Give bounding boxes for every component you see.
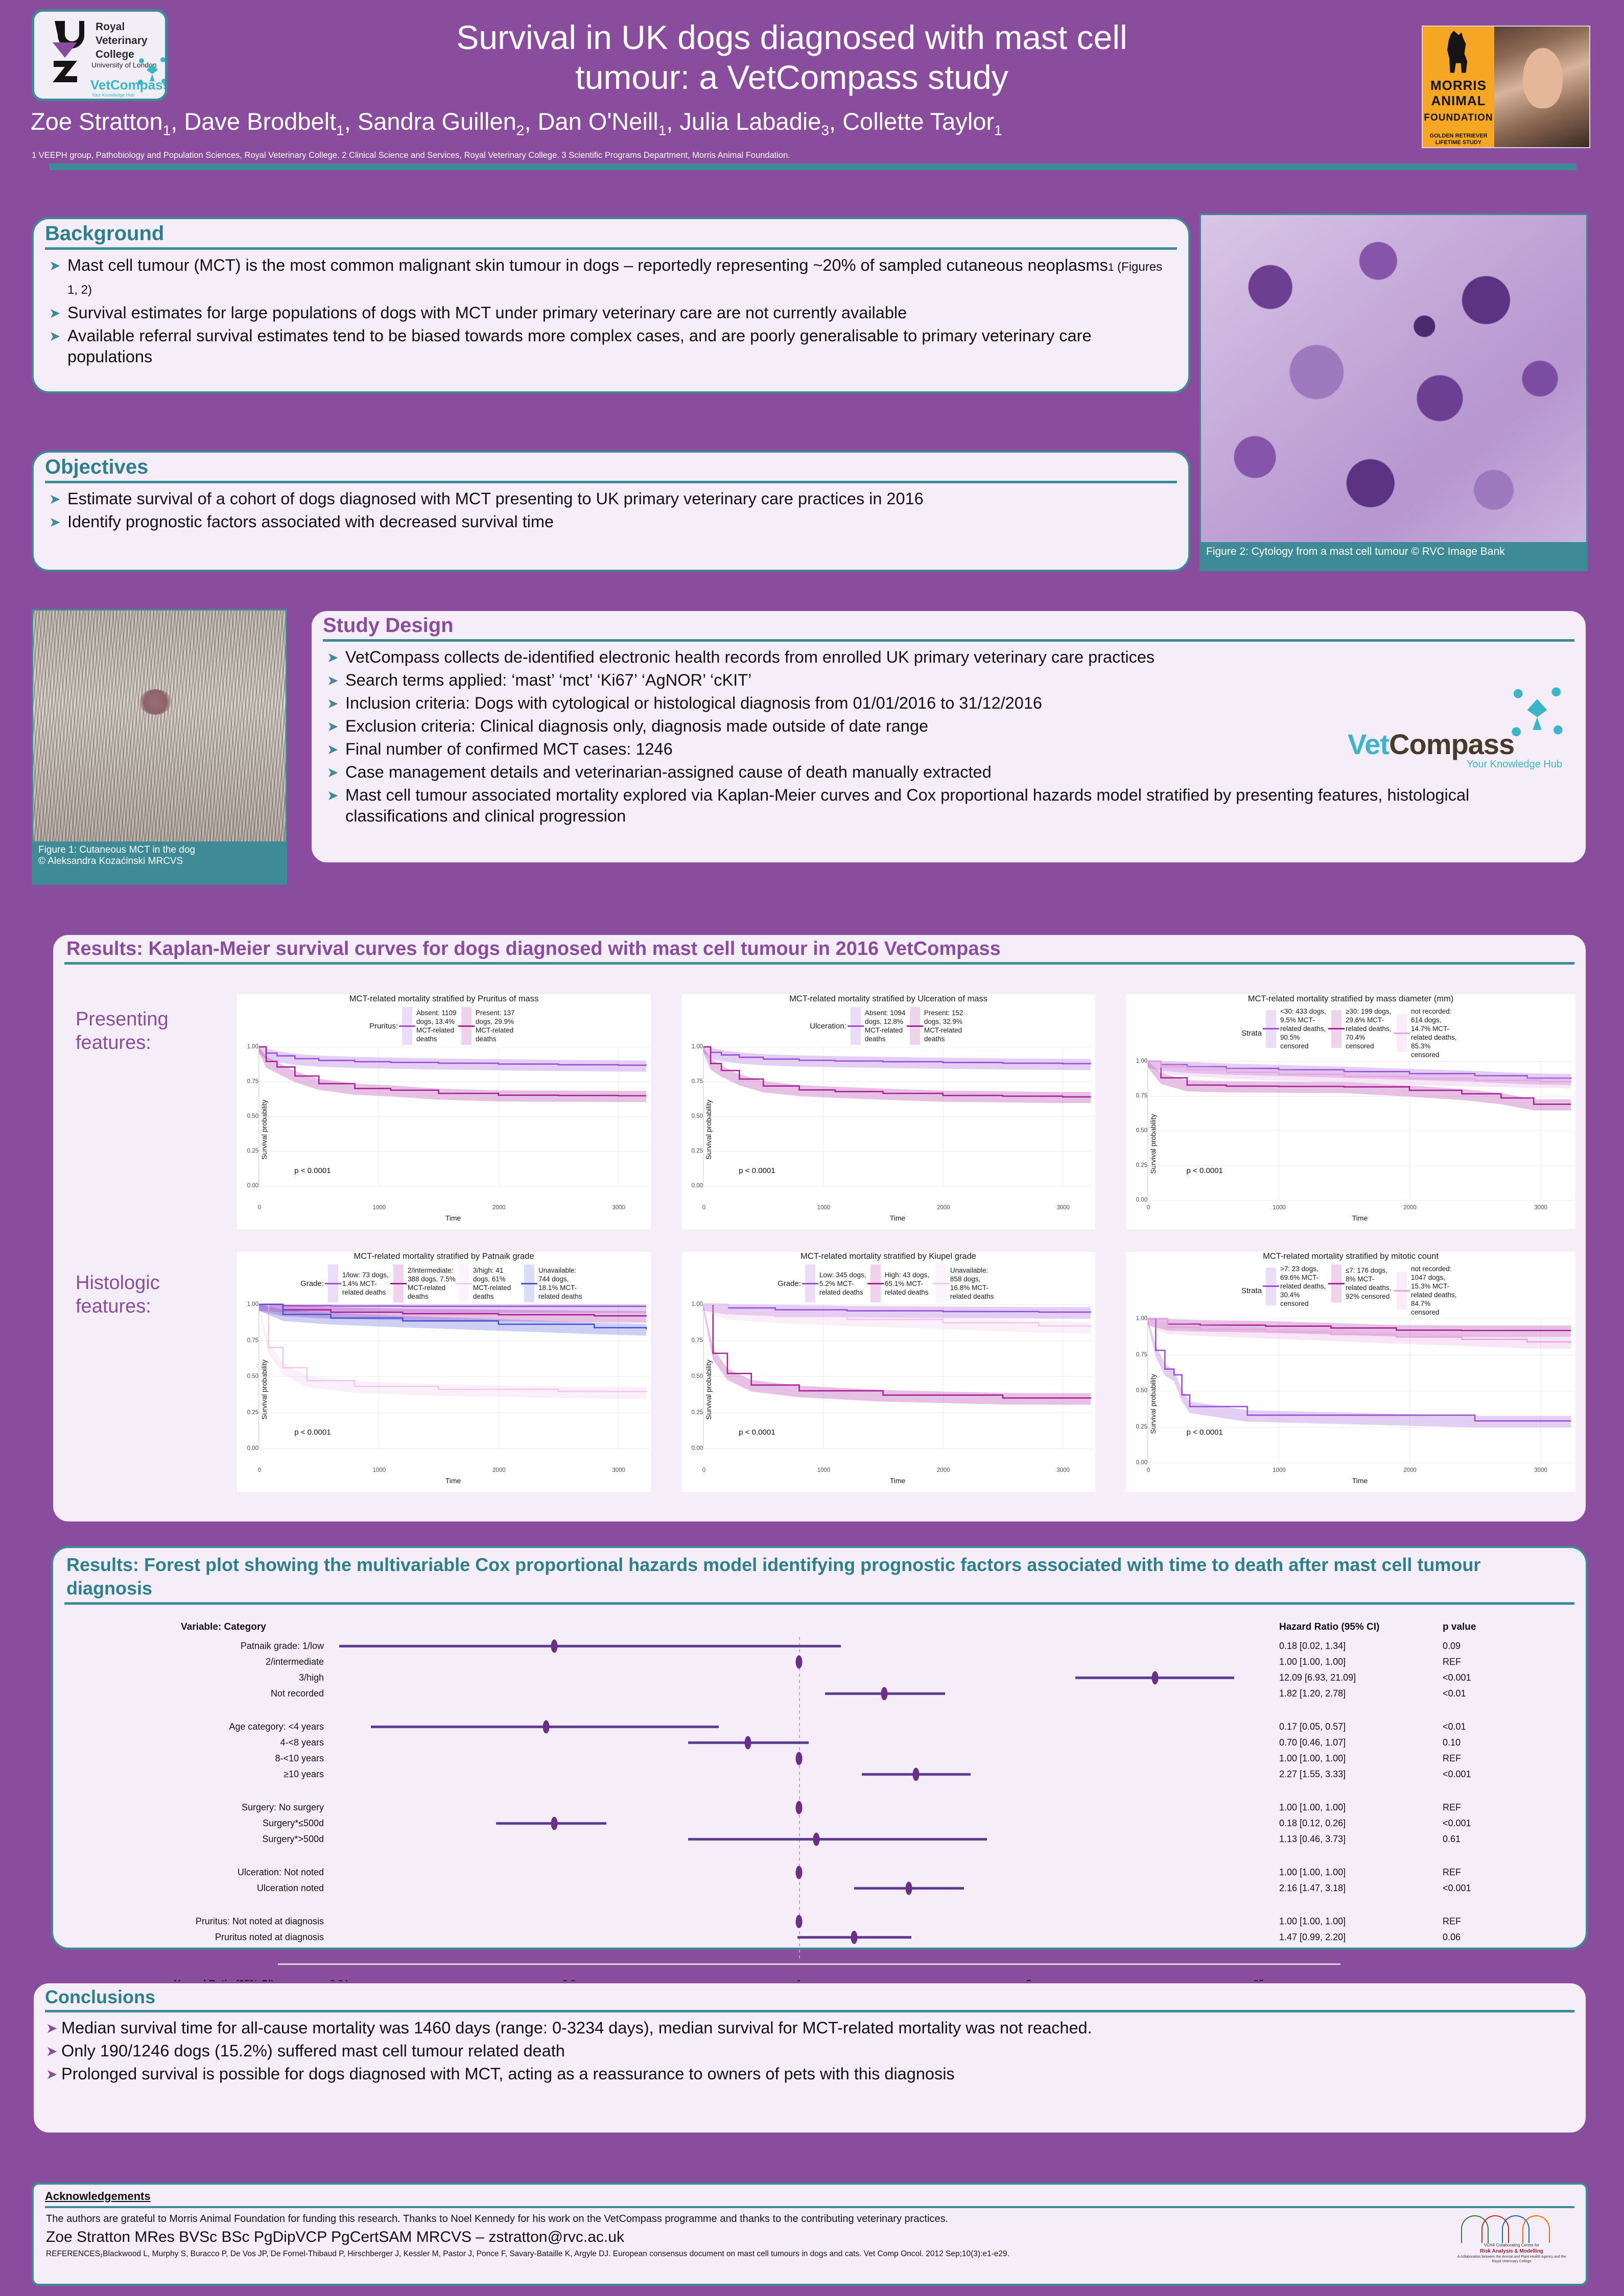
x-tick: 3000: [612, 1467, 625, 1473]
forest-col-variable: Variable: Category: [181, 1622, 266, 1633]
results-km-title: Results: Kaplan-Meier survival curves fo…: [53, 935, 1586, 962]
list-item: Mast cell tumour associated mortality ex…: [325, 785, 1570, 827]
forest-point-estimate: [796, 1655, 803, 1669]
y-tick: 1.00: [1136, 1316, 1147, 1322]
chart-plot-area: [703, 1047, 1093, 1186]
x-tick: 0: [702, 1467, 705, 1473]
legend-title: Grade:: [300, 1279, 324, 1288]
rvc-logo: Royal Veterinary College University of L…: [32, 9, 168, 101]
forest-point-estimate: [543, 1720, 549, 1733]
rvc-line2: Veterinary: [96, 35, 148, 46]
x-tick: 1000: [1273, 1467, 1286, 1473]
results-km-panel: Results: Kaplan-Meier survival curves fo…: [51, 933, 1588, 1524]
morris-animal-foundation-logo: MORRIS ANIMAL FOUNDATION GOLDEN RETRIEVE…: [1422, 26, 1590, 148]
morris-line3: FOUNDATION: [1424, 112, 1493, 123]
y-tick: 1.00: [692, 1044, 703, 1050]
results-km-divider: [64, 962, 1574, 965]
chart-plot-area: [258, 1047, 649, 1186]
rvc-line1: Royal: [96, 21, 125, 33]
morris-line2: ANIMAL: [1431, 93, 1486, 108]
morris-line1: MORRIS: [1430, 78, 1487, 93]
legend-item: <30: 433 dogs, 9.5% MCT-related deaths, …: [1266, 1007, 1329, 1050]
background-panel: Background Mast cell tumour (MCT) is the…: [32, 217, 1190, 393]
vetcompass-logo: VetCompass Your Knowledge Hub: [1348, 728, 1562, 770]
objectives-title: Objectives: [34, 453, 1188, 481]
forest-p-value: <0.01: [1443, 1689, 1466, 1699]
chart-title: MCT-related mortality stratified by Ulce…: [681, 994, 1095, 1004]
y-tick: 0.50: [1136, 1128, 1147, 1134]
legend-label: High: 43 dogs, 65.1% MCT-related deaths: [885, 1271, 934, 1297]
conclusions-title: Conclusions: [34, 1983, 1586, 2010]
legend-label: ≥30: 199 dogs, 29.6% MCT-related deaths,…: [1346, 1007, 1395, 1050]
forest-p-value: REF: [1443, 1802, 1461, 1813]
forest-hr-value: 0.18 [0.12, 0.26]: [1279, 1818, 1346, 1829]
legend-swatch: [328, 1264, 338, 1302]
forest-hr-value: 1.00 [1.00, 1.00]: [1279, 1657, 1346, 1668]
chart-x-axis-label: Time: [1352, 1477, 1368, 1485]
legend-swatch: [402, 1007, 412, 1045]
legend-label: not recorded: 1047 dogs, 15.3% MCT-relat…: [1411, 1264, 1460, 1317]
x-tick: 1000: [817, 1205, 831, 1211]
list-item: Case management details and veterinarian…: [325, 762, 1346, 783]
legend-item: Low: 345 dogs, 5.2% MCT-related deaths: [805, 1264, 868, 1302]
results-forest-divider: [64, 1602, 1574, 1605]
forest-row-label: 2/intermediate: [53, 1657, 324, 1668]
forest-row-label: 3/high: [53, 1673, 324, 1683]
forest-p-value: 0.10: [1443, 1738, 1461, 1748]
list-item: Inclusion criteria: Dogs with cytologica…: [325, 693, 1346, 714]
forest-row-label: Surgery*≤500d: [53, 1818, 324, 1829]
chart-km-mitotic: MCT-related mortality stratified by mito…: [1126, 1252, 1575, 1492]
y-tick: 0.00: [692, 1183, 703, 1189]
forest-p-value: REF: [1443, 1916, 1461, 1927]
chart-legend: Grade:Low: 345 dogs, 5.2% MCT-related de…: [681, 1264, 1095, 1302]
chart-plot-area: [1147, 1061, 1573, 1200]
cytology-image: [1201, 215, 1586, 542]
legend-swatch: [1397, 1272, 1407, 1309]
legend-swatch: [1266, 1268, 1276, 1305]
forest-point-estimate: [851, 1931, 857, 1944]
y-tick: 0.25: [247, 1148, 258, 1154]
x-tick: 1000: [817, 1467, 831, 1473]
legend-label: not recorded: 614 dogs, 14.7% MCT-relate…: [1411, 1007, 1460, 1059]
list-item: Estimate survival of a cohort of dogs di…: [47, 488, 1174, 509]
list-item: Available referral survival estimates te…: [47, 325, 1174, 367]
legend-title: Strata: [1241, 1029, 1262, 1038]
legend-label: ≤7: 176 dogs, 8% MCT-related deaths, 92%…: [1346, 1266, 1395, 1301]
conclusions-divider: [45, 2010, 1574, 2012]
dog-silhouette-icon: [1440, 31, 1476, 75]
legend-item: 2/intermediate: 388 dogs, 7.5% MCT-relat…: [393, 1264, 457, 1302]
x-tick: 2000: [1403, 1467, 1417, 1473]
y-tick: 1.00: [1136, 1058, 1147, 1064]
chart-legend: Grade:1/low: 73 dogs, 1.4% MCT-related d…: [237, 1264, 651, 1302]
forest-point-estimate: [796, 1866, 803, 1879]
y-tick: 1.00: [247, 1044, 258, 1050]
vetcompass-star-icon: [1509, 685, 1565, 741]
chart-title: MCT-related mortality stratified by Kiup…: [681, 1252, 1095, 1261]
chart-km-patnaik: MCT-related mortality stratified by Patn…: [237, 1252, 651, 1492]
dog-mct-image: [33, 611, 286, 841]
background-title: Background: [34, 219, 1188, 247]
legend-title: Grade:: [778, 1279, 801, 1288]
objectives-panel: Objectives Estimate survival of a cohort…: [32, 451, 1190, 572]
affiliations: 1 VEEPH group, Pathobiology and Populati…: [32, 151, 1258, 160]
list-item: Final number of confirmed MCT cases: 124…: [325, 739, 1346, 760]
objectives-divider: [45, 481, 1177, 483]
legend-item: Present: 152 dogs, 32.9% MCT-related dea…: [910, 1007, 967, 1045]
y-tick: 0.50: [247, 1113, 258, 1119]
chart-km-ulceration: MCT-related mortality stratified by Ulce…: [681, 994, 1095, 1229]
chart-x-axis-label: Time: [445, 1214, 461, 1222]
page-title: Survival in UK dogs diagnosed with mast …: [286, 17, 1298, 97]
list-item: Median survival time for all-cause morta…: [44, 2018, 1571, 2039]
forest-hr-value: 1.82 [1.20, 2.78]: [1279, 1689, 1346, 1699]
legend-label: Unavailable: 744 dogs, 18.1% MCT-related…: [538, 1266, 587, 1301]
study-design-title: Study Design: [312, 611, 1586, 639]
y-tick: 0.25: [247, 1410, 258, 1416]
y-tick: 0.50: [247, 1373, 258, 1379]
legend-swatch: [936, 1264, 946, 1302]
figure-1-caption-line2: © Aleksandra Kozaćinski MRCVS: [38, 856, 183, 866]
rvc-crest-icon: [48, 18, 97, 89]
forest-row-label: Pruritus noted at diagnosis: [53, 1932, 324, 1943]
rvc-logo-text: Royal Veterinary College: [96, 20, 148, 61]
legend-swatch: [910, 1007, 920, 1045]
legend-item: ≤7: 176 dogs, 8% MCT-related deaths, 92%…: [1331, 1264, 1395, 1302]
y-tick: 1.00: [247, 1301, 258, 1307]
forest-point-estimate: [1151, 1671, 1158, 1684]
y-tick: 0.75: [1136, 1093, 1147, 1099]
x-tick: 2000: [492, 1205, 506, 1211]
y-tick: 1.00: [692, 1301, 703, 1307]
legend-label: 1/low: 73 dogs, 1.4% MCT-related deaths: [342, 1271, 391, 1297]
forest-hr-value: 2.27 [1.55, 3.33]: [1279, 1769, 1346, 1780]
chart-legend: Pruritus:Absent: 1109 dogs, 13.4% MCT-re…: [237, 1007, 651, 1045]
contact-line: Zoe Stratton MRes BVSc BSc PgDipVCP PgCe…: [34, 2225, 1586, 2247]
forest-p-value: 0.06: [1443, 1932, 1461, 1943]
legend-swatch: [459, 1264, 469, 1302]
forest-hr-value: 1.13 [0.46, 3.73]: [1279, 1834, 1346, 1845]
legend-swatch: [870, 1264, 881, 1302]
forest-p-value: REF: [1443, 1657, 1461, 1668]
forest-row-label: Pruritus: Not noted at diagnosis: [53, 1916, 324, 1927]
forest-p-value: <0.001: [1443, 1673, 1471, 1683]
chart-km-kiupel: MCT-related mortality stratified by Kiup…: [681, 1252, 1095, 1492]
legend-item: not recorded: 614 dogs, 14.7% MCT-relate…: [1397, 1007, 1460, 1059]
forest-hr-value: 2.16 [1.47, 3.18]: [1279, 1883, 1346, 1894]
chart-plot-area: [703, 1304, 1093, 1448]
legend-label: 2/intermediate: 388 dogs, 7.5% MCT-relat…: [408, 1266, 457, 1301]
forest-row-label: 8-<10 years: [53, 1753, 324, 1764]
legend-label: Low: 345 dogs, 5.2% MCT-related deaths: [819, 1271, 868, 1297]
forest-hr-value: 1.00 [1.00, 1.00]: [1279, 1753, 1346, 1764]
x-tick: 1000: [1273, 1205, 1286, 1211]
forest-p-value: <0.001: [1443, 1818, 1471, 1829]
y-tick: 0.75: [692, 1338, 703, 1344]
legend-swatch: [1397, 1014, 1407, 1052]
x-tick: 3000: [1056, 1467, 1070, 1473]
forest-p-value: 0.61: [1443, 1834, 1461, 1845]
y-tick: 0.50: [692, 1113, 703, 1119]
chart-pvalue-annotation: p < 0.0001: [294, 1428, 331, 1437]
x-tick: 0: [258, 1205, 261, 1211]
chart-title: MCT-related mortality stratified by mito…: [1126, 1252, 1575, 1261]
y-tick: 0.00: [1136, 1460, 1147, 1466]
background-divider: [45, 247, 1177, 250]
y-tick: 0.50: [692, 1373, 703, 1379]
y-tick: 0.25: [692, 1148, 703, 1154]
presenter-photo: [1494, 27, 1589, 147]
forest-row-label: Ulceration: Not noted: [53, 1867, 324, 1878]
forest-point-estimate: [813, 1833, 820, 1846]
forest-hr-value: 1.00 [1.00, 1.00]: [1279, 1802, 1346, 1813]
forest-axis-line: [278, 1963, 1340, 1965]
row-label-presenting: Presentingfeatures:: [76, 1008, 169, 1055]
y-tick: 0.75: [692, 1079, 703, 1085]
forest-row-label: 4-<8 years: [53, 1738, 324, 1748]
chart-legend: Strata<30: 433 dogs, 9.5% MCT-related de…: [1126, 1007, 1575, 1059]
results-forest-panel: Results: Forest plot showing the multiva…: [51, 1546, 1588, 1950]
legend-item: 1/low: 73 dogs, 1.4% MCT-related deaths: [328, 1264, 391, 1302]
chart-km-mass-diameter: MCT-related mortality stratified by mass…: [1126, 994, 1575, 1229]
risk-analysis-modelling-logo: VCH4 Collaborating Centre for Risk Analy…: [1453, 2210, 1570, 2277]
results-forest-title: Results: Forest plot showing the multiva…: [53, 1548, 1586, 1602]
morris-logo-text: MORRIS ANIMAL FOUNDATION: [1423, 78, 1494, 126]
acknowledgements-body: The authors are grateful to Morris Anima…: [34, 2212, 1586, 2225]
figure-1-caption-line1: Figure 1: Cutaneous MCT in the dog: [38, 845, 195, 855]
list-item: Only 190/1246 dogs (15.2%) suffered mast…: [44, 2041, 1571, 2061]
chart-pvalue-annotation: p < 0.0001: [1187, 1428, 1223, 1437]
chart-x-axis-label: Time: [890, 1214, 906, 1222]
legend-item: Unavailable: 858 dogs, 16.8% MCT-related…: [936, 1264, 999, 1302]
objectives-bullet-list: Estimate survival of a cohort of dogs di…: [47, 488, 1174, 532]
forest-point-estimate: [745, 1736, 751, 1749]
vetcompass-vet: Vet: [1348, 728, 1389, 760]
y-tick: 0.75: [247, 1338, 258, 1344]
forest-hr-value: 0.70 [0.46, 1.07]: [1279, 1738, 1346, 1748]
vetcompass-compass: Compass: [1389, 728, 1514, 760]
y-tick: 0.25: [1136, 1424, 1147, 1430]
list-item: Exclusion criteria: Clinical diagnosis o…: [325, 716, 1346, 737]
list-item: Mast cell tumour (MCT) is the most commo…: [47, 255, 1174, 300]
chart-km-pruritus: MCT-related mortality stratified by Prur…: [237, 994, 651, 1229]
x-tick: 3000: [612, 1205, 625, 1211]
figure-1-box: Figure 1: Cutaneous MCT in the dog © Ale…: [32, 609, 287, 885]
forest-ci-bar: [688, 1838, 987, 1841]
legend-item: >7: 23 dogs, 69.6% MCT-related deaths, 3…: [1266, 1264, 1329, 1308]
y-tick: 0.00: [692, 1445, 703, 1451]
forest-point-estimate: [551, 1639, 557, 1653]
forest-col-p: p value: [1443, 1622, 1476, 1633]
legend-swatch: [1331, 1264, 1341, 1302]
legend-swatch: [1331, 1010, 1341, 1048]
forest-p-value: <0.001: [1443, 1769, 1471, 1780]
rvc-line3: College: [96, 49, 134, 60]
risk-logo-line1: VCH4 Collaborating Centre for: [1453, 2243, 1570, 2248]
chart-pvalue-annotation: p < 0.0001: [739, 1428, 775, 1437]
forest-p-value: REF: [1443, 1867, 1461, 1878]
risk-logo-line2: Risk Analysis & Modelling: [1453, 2248, 1570, 2255]
background-bullet-0-text: Mast cell tumour (MCT) is the most commo…: [67, 256, 1108, 274]
x-tick: 0: [1147, 1205, 1150, 1211]
chart-pvalue-annotation: p < 0.0001: [739, 1166, 775, 1175]
background-bullet-list: Mast cell tumour (MCT) is the most commo…: [47, 255, 1174, 367]
x-tick: 0: [258, 1467, 261, 1473]
y-tick: 0.00: [247, 1445, 258, 1451]
list-item: Prolonged survival is possible for dogs …: [44, 2064, 1571, 2084]
y-tick: 0.50: [1136, 1388, 1147, 1394]
rvc-vetcompass-tagline: Your Knowledge Hub: [91, 92, 134, 98]
legend-item: High: 43 dogs, 65.1% MCT-related deaths: [870, 1264, 934, 1302]
chart-plot-area: [1147, 1319, 1573, 1463]
chart-median-guide: [259, 1304, 646, 1448]
study-design-bullet-list: VetCompass collects de-identified electr…: [325, 647, 1346, 827]
x-tick: 2000: [937, 1467, 950, 1473]
forest-ci-bar: [339, 1645, 841, 1648]
legend-swatch: [393, 1264, 404, 1302]
x-tick: 0: [702, 1205, 705, 1211]
vetcompass-star-icon: [136, 56, 168, 87]
list-item: VetCompass collects de-identified electr…: [325, 647, 1346, 668]
title-line-1: Survival in UK dogs diagnosed with mast …: [456, 18, 1127, 56]
legend-label: <30: 433 dogs, 9.5% MCT-related deaths, …: [1280, 1007, 1329, 1050]
forest-row-label: Surgery*>500d: [53, 1834, 324, 1845]
x-tick: 3000: [1534, 1205, 1547, 1211]
legend-swatch: [805, 1264, 815, 1302]
legend-label: Absent: 1109 dogs, 13.4% MCT-related dea…: [416, 1009, 459, 1043]
y-tick: 0.00: [247, 1183, 258, 1189]
acknowledgements-title: Acknowledgements: [34, 2185, 1586, 2204]
chart-x-axis-label: Time: [890, 1477, 906, 1485]
author-list: Zoe Stratton1, Dave Brodbelt1, Sandra Gu…: [31, 107, 1246, 138]
legend-swatch: [1266, 1010, 1276, 1048]
figure-1-caption: Figure 1: Cutaneous MCT in the dog © Ale…: [33, 841, 286, 870]
forest-plot: Variable: CategoryHazard Ratio (95% CI)p…: [53, 1620, 1586, 1936]
chart-x-axis-label: Time: [445, 1477, 461, 1485]
y-tick: 0.25: [692, 1410, 703, 1416]
forest-point-estimate: [906, 1882, 912, 1895]
row-label-histologic: Histologicfeatures:: [76, 1271, 160, 1318]
x-tick: 1000: [373, 1467, 386, 1473]
chart-legend: Strata>7: 23 dogs, 69.6% MCT-related dea…: [1126, 1264, 1575, 1317]
forest-row-label: ≥10 years: [53, 1769, 324, 1780]
y-tick: 0.75: [1136, 1352, 1147, 1358]
acknowledgements-panel: Acknowledgements The authors are gratefu…: [32, 2183, 1588, 2286]
morris-study-label: GOLDEN RETRIEVER LIFETIME STUDY: [1423, 133, 1494, 146]
study-design-panel: Study Design VetCompass collects de-iden…: [310, 609, 1588, 864]
legend-item: ≥30: 199 dogs, 29.6% MCT-related deaths,…: [1331, 1007, 1395, 1050]
y-tick: 0.75: [247, 1079, 258, 1085]
legend-swatch: [461, 1007, 472, 1045]
legend-item: Absent: 1094 dogs, 12.8% MCT-related dea…: [851, 1007, 908, 1045]
forest-row-label: Surgery: No surgery: [53, 1802, 324, 1813]
legend-title: Pruritus:: [369, 1022, 398, 1030]
title-line-2: tumour: a VetCompass study: [575, 58, 1008, 96]
forest-row-label: Patnaik grade: 1/low: [53, 1641, 324, 1652]
legend-title: Strata: [1241, 1286, 1262, 1295]
background-bullet-0-ref: 1: [1108, 262, 1114, 273]
x-tick: 1000: [373, 1205, 386, 1211]
figure-2-caption: Figure 2: Cytology from a mast cell tumo…: [1201, 542, 1586, 560]
forest-point-estimate: [881, 1687, 888, 1700]
chart-title: MCT-related mortality stratified by mass…: [1126, 994, 1575, 1004]
forest-hr-value: 1.47 [0.99, 2.20]: [1279, 1932, 1346, 1943]
forest-row-label: Ulceration noted: [53, 1883, 324, 1894]
legend-title: Ulceration:: [810, 1022, 846, 1030]
y-tick: 0.00: [1136, 1197, 1147, 1203]
figure-2-box: Figure 2: Cytology from a mast cell tumo…: [1199, 214, 1588, 571]
forest-point-estimate: [551, 1817, 557, 1830]
list-item: Identify prognostic factors associated w…: [47, 511, 1174, 532]
chart-x-axis-label: Time: [1352, 1214, 1368, 1222]
forest-point-estimate: [796, 1801, 803, 1814]
legend-label: Unavailable: 858 dogs, 16.8% MCT-related…: [950, 1266, 999, 1301]
chart-title: MCT-related mortality stratified by Patn…: [237, 1252, 651, 1261]
legend-item: 3/high: 41 dogs, 61% MCT-related deaths: [459, 1264, 522, 1302]
legend-label: Present: 152 dogs, 32.9% MCT-related dea…: [924, 1009, 967, 1043]
chart-plot-area: [258, 1304, 649, 1448]
forest-p-value: <0.001: [1443, 1883, 1471, 1894]
legend-swatch: [524, 1264, 534, 1302]
legend-label: >7: 23 dogs, 69.6% MCT-related deaths, 3…: [1280, 1264, 1329, 1308]
poster-header: Royal Veterinary College University of L…: [0, 0, 1624, 176]
legend-label: Present: 137 dogs, 29.9% MCT-related dea…: [476, 1009, 519, 1043]
chart-median-guide: [703, 1047, 1091, 1186]
forest-p-value: <0.01: [1443, 1722, 1466, 1732]
risk-logo-line3: A collaboration between the Animal and P…: [1453, 2255, 1570, 2264]
chart-legend: Ulceration:Absent: 1094 dogs, 12.8% MCT-…: [681, 1007, 1095, 1045]
x-tick: 2000: [492, 1467, 506, 1473]
chart-median-guide: [1148, 1061, 1571, 1200]
forest-p-value: 0.09: [1443, 1641, 1461, 1652]
x-tick: 0: [1147, 1467, 1150, 1473]
x-tick: 3000: [1056, 1205, 1070, 1211]
y-tick: 0.25: [1136, 1162, 1147, 1168]
forest-point-estimate: [913, 1768, 920, 1781]
legend-item: not recorded: 1047 dogs, 15.3% MCT-relat…: [1397, 1264, 1460, 1317]
forest-reference-line: [799, 1637, 800, 1958]
references-line: REFERENCES₁Blackwood L, Murphy S, Buracc…: [34, 2247, 1444, 2264]
x-tick: 2000: [1403, 1205, 1417, 1211]
chart-median-guide: [1148, 1319, 1571, 1463]
chart-pvalue-annotation: p < 0.0001: [1187, 1166, 1223, 1175]
forest-col-hr: Hazard Ratio (95% CI): [1279, 1622, 1379, 1633]
x-tick: 2000: [937, 1205, 950, 1211]
morris-logo-panel: MORRIS ANIMAL FOUNDATION GOLDEN RETRIEVE…: [1423, 27, 1494, 147]
chart-median-guide: [703, 1304, 1091, 1448]
legend-item: Present: 137 dogs, 29.9% MCT-related dea…: [461, 1007, 519, 1045]
forest-hr-value: 0.17 [0.05, 0.57]: [1279, 1722, 1346, 1732]
x-tick: 3000: [1534, 1467, 1547, 1473]
risk-curves-icon: [1453, 2210, 1570, 2243]
forest-row-label: Not recorded: [53, 1689, 324, 1699]
legend-label: 3/high: 41 dogs, 61% MCT-related deaths: [473, 1266, 522, 1301]
forest-hr-value: 12.09 [6.93, 21.09]: [1279, 1673, 1356, 1683]
chart-median-guide: [259, 1047, 646, 1186]
forest-hr-value: 1.00 [1.00, 1.00]: [1279, 1867, 1346, 1878]
legend-item: Unavailable: 744 dogs, 18.1% MCT-related…: [524, 1264, 587, 1302]
legend-swatch: [851, 1007, 861, 1045]
forest-hr-value: 1.00 [1.00, 1.00]: [1279, 1916, 1346, 1927]
forest-hr-value: 0.18 [0.02, 1.34]: [1279, 1641, 1346, 1652]
list-item: Search terms applied: ‘mast’ ‘mct’ ‘Ki67…: [325, 670, 1346, 691]
forest-point-estimate: [796, 1752, 803, 1765]
forest-point-estimate: [796, 1915, 803, 1928]
legend-label: Absent: 1094 dogs, 12.8% MCT-related dea…: [865, 1009, 908, 1043]
legend-item: Absent: 1109 dogs, 13.4% MCT-related dea…: [402, 1007, 459, 1045]
chart-pvalue-annotation: p < 0.0001: [294, 1166, 331, 1175]
